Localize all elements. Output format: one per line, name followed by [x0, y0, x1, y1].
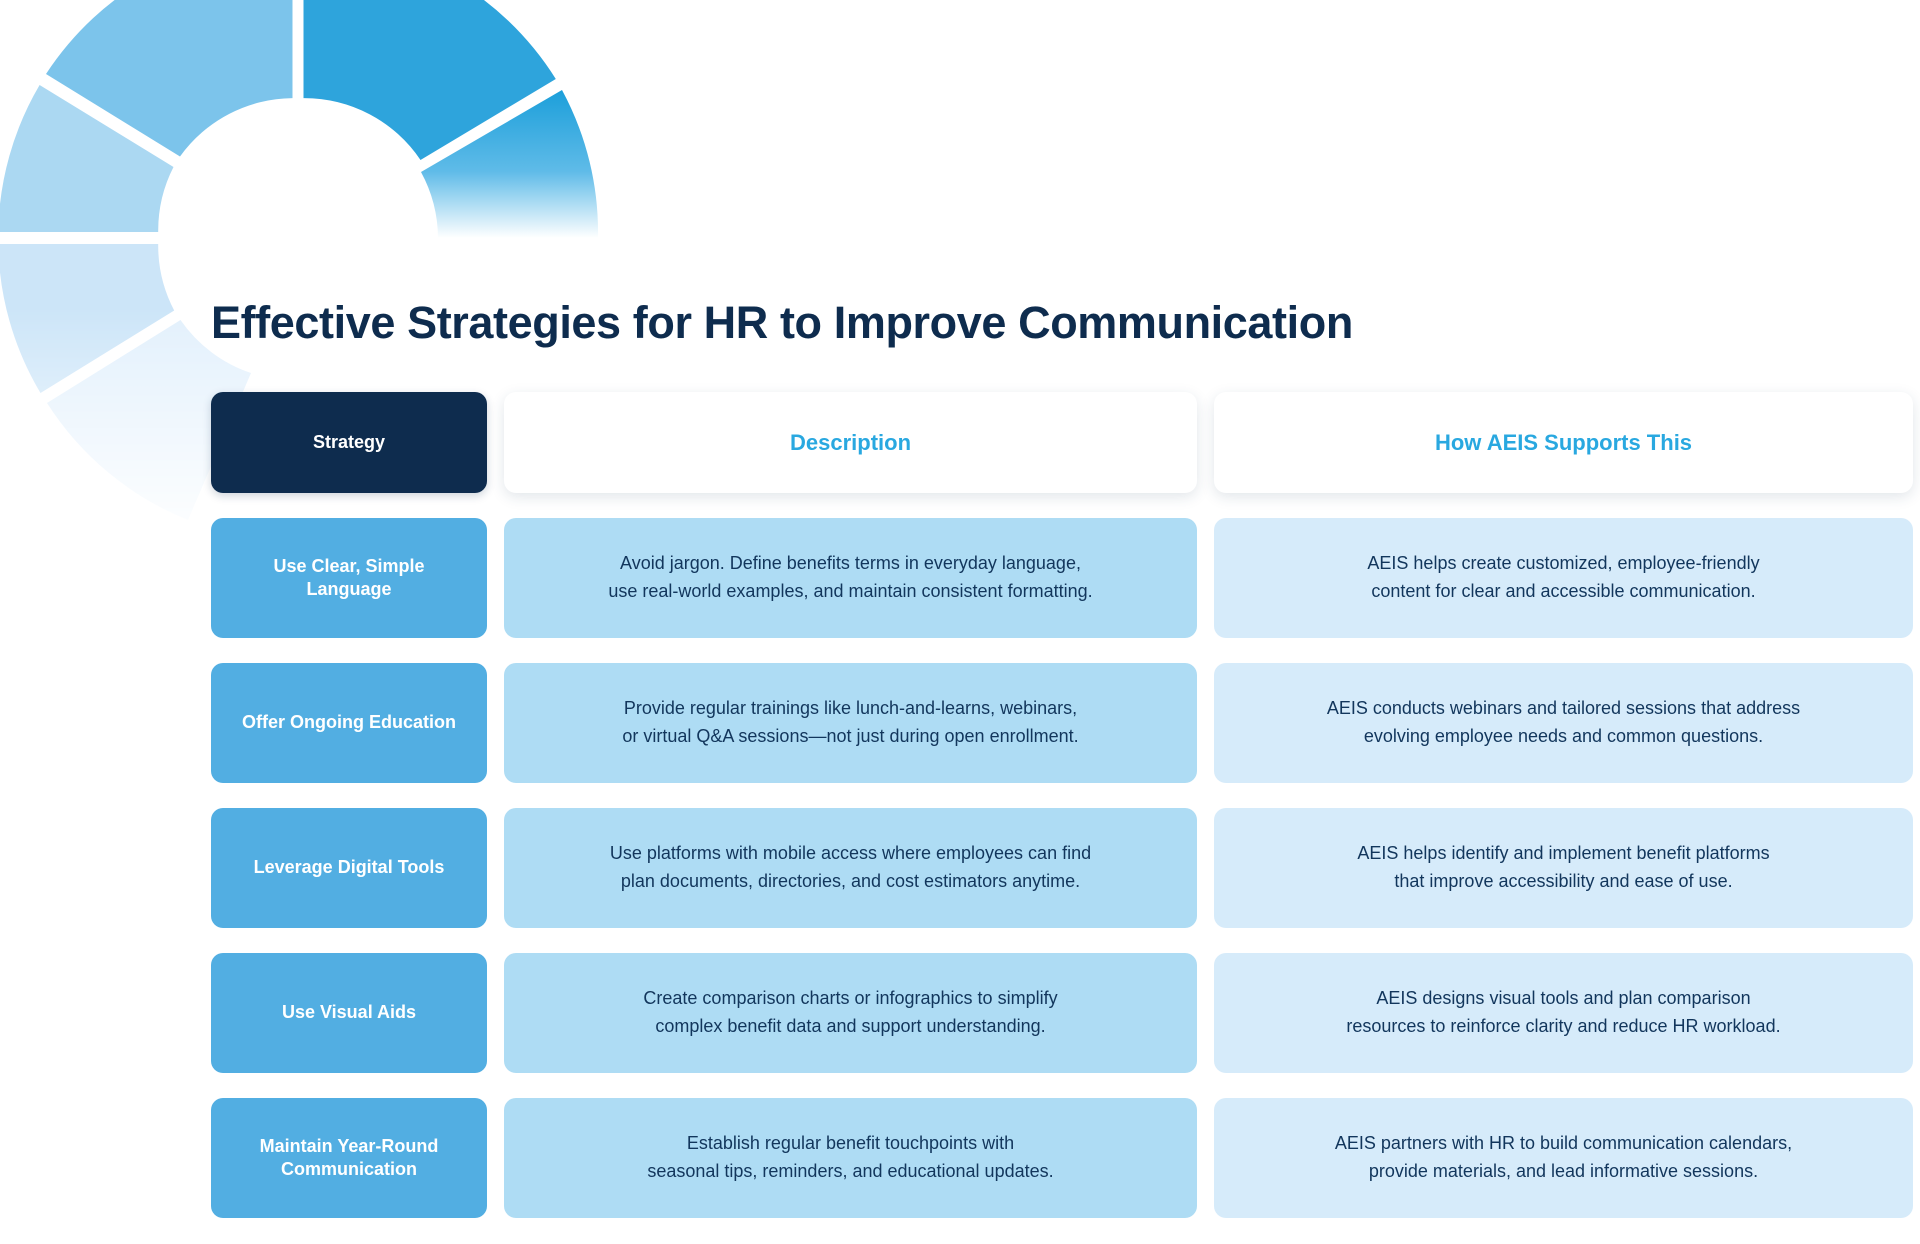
- strategy-matrix-table: Strategy Description How AEIS Supports T…: [211, 392, 1913, 1218]
- row-support-text: AEIS conducts webinars and tailored sess…: [1327, 695, 1800, 751]
- row-strategy-label: Use Visual Aids: [282, 1001, 416, 1024]
- column-header-strategy[interactable]: Strategy: [211, 392, 487, 493]
- row-strategy-label: Offer Ongoing Education: [242, 711, 456, 734]
- row-support-cell[interactable]: AEIS designs visual tools and plan compa…: [1214, 953, 1913, 1073]
- row-support-cell[interactable]: AEIS conducts webinars and tailored sess…: [1214, 663, 1913, 783]
- table-row: Leverage Digital Tools Use platforms wit…: [211, 808, 1913, 928]
- column-header-strategy-label: Strategy: [313, 432, 385, 453]
- table-row: Offer Ongoing Education Provide regular …: [211, 663, 1913, 783]
- row-description-text: Create comparison charts or infographics…: [643, 985, 1057, 1041]
- row-description-text: Establish regular benefit touchpoints wi…: [647, 1130, 1053, 1186]
- row-strategy-cell[interactable]: Maintain Year-Round Communication: [211, 1098, 487, 1218]
- row-support-cell[interactable]: AEIS partners with HR to build communica…: [1214, 1098, 1913, 1218]
- row-description-cell[interactable]: Establish regular benefit touchpoints wi…: [504, 1098, 1197, 1218]
- table-header-row: Strategy Description How AEIS Supports T…: [211, 392, 1913, 493]
- row-support-text: AEIS helps identify and implement benefi…: [1357, 840, 1769, 896]
- table-row: Maintain Year-Round Communication Establ…: [211, 1098, 1913, 1218]
- content-root: Effective Strategies for HR to Improve C…: [0, 0, 1920, 1244]
- column-header-description-label: Description: [790, 430, 911, 456]
- column-header-support-label: How AEIS Supports This: [1435, 430, 1692, 456]
- row-strategy-label: Leverage Digital Tools: [254, 856, 445, 879]
- column-header-description[interactable]: Description: [504, 392, 1197, 493]
- table-row: Use Clear, Simple Language Avoid jargon.…: [211, 518, 1913, 638]
- row-strategy-cell[interactable]: Offer Ongoing Education: [211, 663, 487, 783]
- row-strategy-cell[interactable]: Leverage Digital Tools: [211, 808, 487, 928]
- row-strategy-cell[interactable]: Use Clear, Simple Language: [211, 518, 487, 638]
- row-strategy-label: Use Clear, Simple Language: [233, 555, 465, 602]
- row-support-text: AEIS helps create customized, employee-f…: [1367, 550, 1759, 606]
- row-support-cell[interactable]: AEIS helps identify and implement benefi…: [1214, 808, 1913, 928]
- row-description-cell[interactable]: Create comparison charts or infographics…: [504, 953, 1197, 1073]
- row-description-cell[interactable]: Provide regular trainings like lunch-and…: [504, 663, 1197, 783]
- table-row: Use Visual Aids Create comparison charts…: [211, 953, 1913, 1073]
- row-support-cell[interactable]: AEIS helps create customized, employee-f…: [1214, 518, 1913, 638]
- row-strategy-cell[interactable]: Use Visual Aids: [211, 953, 487, 1073]
- row-description-text: Use platforms with mobile access where e…: [610, 840, 1091, 896]
- row-description-cell[interactable]: Use platforms with mobile access where e…: [504, 808, 1197, 928]
- row-support-text: AEIS designs visual tools and plan compa…: [1346, 985, 1780, 1041]
- row-strategy-label: Maintain Year-Round Communication: [260, 1135, 439, 1182]
- page-title: Effective Strategies for HR to Improve C…: [211, 297, 1353, 349]
- row-description-text: Provide regular trainings like lunch-and…: [622, 695, 1078, 751]
- row-description-text: Avoid jargon. Define benefits terms in e…: [608, 550, 1092, 606]
- row-description-cell[interactable]: Avoid jargon. Define benefits terms in e…: [504, 518, 1197, 638]
- row-support-text: AEIS partners with HR to build communica…: [1335, 1130, 1792, 1186]
- column-header-support[interactable]: How AEIS Supports This: [1214, 392, 1913, 493]
